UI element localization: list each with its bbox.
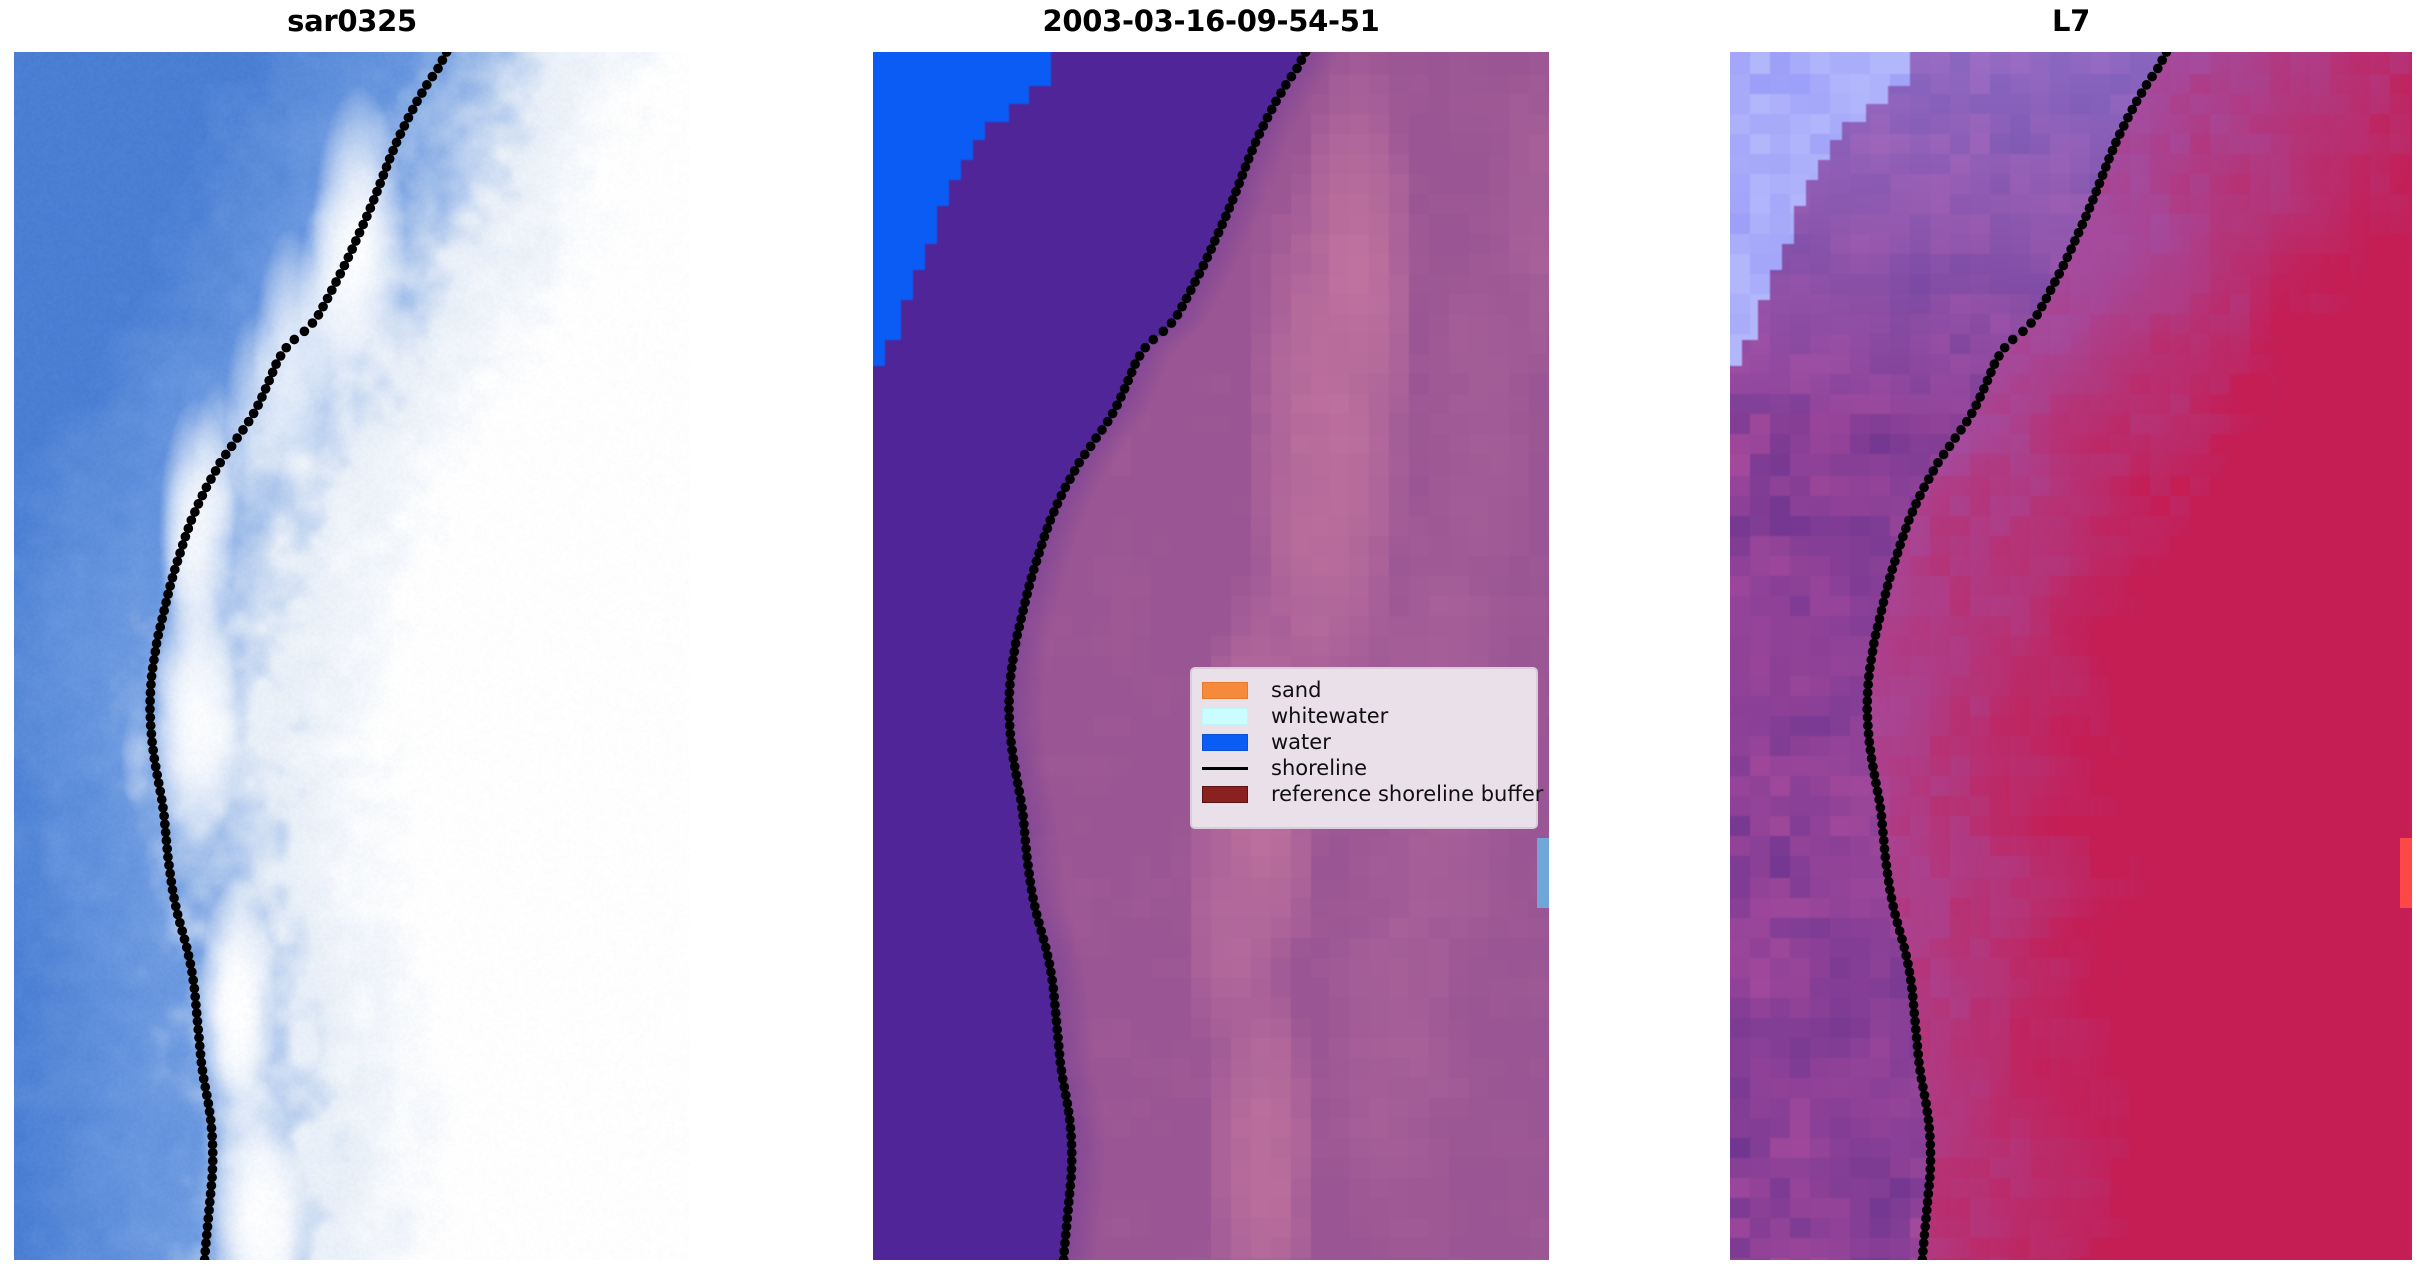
panel-title-classified: 2003-03-16-09-54-51 <box>873 4 1549 38</box>
legend-marker <box>1202 708 1248 725</box>
legend-swatch-whitewater <box>1202 708 1264 725</box>
legend-item-whitewater: whitewater <box>1202 703 1524 729</box>
legend-swatch-sand <box>1202 682 1264 699</box>
panel-image-classified <box>873 52 1549 1260</box>
panel-image-sar <box>14 52 690 1260</box>
legend-label: sand <box>1264 680 1321 701</box>
legend-marker <box>1202 682 1248 699</box>
legend-swatch-water <box>1202 734 1264 751</box>
sand-strip-l7 <box>2400 838 2412 908</box>
legend-marker <box>1202 734 1248 751</box>
legend-swatch-shoreline <box>1202 767 1264 770</box>
legend-marker <box>1202 767 1248 770</box>
legend-item-sand: sand <box>1202 677 1524 703</box>
legend-item-shoreline: shoreline <box>1202 755 1524 781</box>
legend-item-reference-shoreline-buffer: reference shoreline buffer <box>1202 781 1524 807</box>
legend-label: reference shoreline buffer <box>1264 784 1543 805</box>
legend-marker <box>1202 786 1248 803</box>
panel-title-sar: sar0325 <box>14 4 690 38</box>
legend: sandwhitewaterwatershorelinereference sh… <box>1190 667 1538 829</box>
sand-strip-classified <box>1537 838 1549 908</box>
panel-sar[interactable] <box>14 52 690 1260</box>
figure-root: sar0325 2003-03-16-09-54-51 L7 sandwhite… <box>0 0 2420 1283</box>
panel-classified[interactable] <box>873 52 1549 1260</box>
legend-label: shoreline <box>1264 758 1367 779</box>
panel-image-l7 <box>1730 52 2412 1260</box>
legend-label: water <box>1264 732 1331 753</box>
legend-swatch-reference-shoreline-buffer <box>1202 786 1264 803</box>
legend-label: whitewater <box>1264 706 1388 727</box>
legend-item-water: water <box>1202 729 1524 755</box>
panel-l7[interactable] <box>1730 52 2412 1260</box>
panel-title-l7: L7 <box>1730 4 2412 38</box>
